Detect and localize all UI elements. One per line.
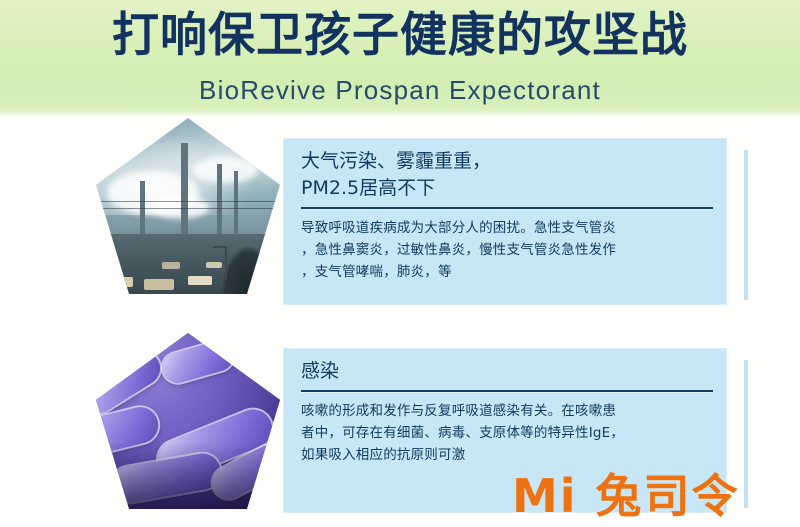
block-heading: 大气污染、雾霾重重， PM2.5居高不下 [301, 148, 713, 202]
accent-bar [744, 150, 748, 300]
poster-page: 打响保卫孩子健康的攻坚战 BioRevive Prospan Expectora… [0, 0, 800, 527]
block-heading: 感染 [301, 358, 713, 385]
header-banner: 打响保卫孩子健康的攻坚战 BioRevive Prospan Expectora… [0, 0, 800, 116]
pentagon-image-frame [96, 333, 280, 509]
bacteria-micrograph-photo [96, 333, 280, 509]
heading-divider [301, 207, 713, 209]
text-panel-pollution: 大气污染、雾霾重重， PM2.5居高不下 导致呼吸道疾病成为大部分人的困扰。急性… [283, 138, 727, 305]
accent-bar [744, 360, 748, 508]
watermark: Mi 兔司令 [512, 470, 740, 522]
air-pollution-photo [96, 118, 280, 294]
page-subtitle: BioRevive Prospan Expectorant [0, 74, 800, 106]
block-body-text: 导致呼吸道疾病成为大部分人的困扰。急性支气管炎 ，急性鼻窦炎，过敏性鼻炎，慢性支… [301, 217, 713, 283]
page-title: 打响保卫孩子健康的攻坚战 [0, 4, 800, 68]
pentagon-image-frame [96, 118, 280, 294]
block-body-text: 咳嗽的形成和发作与反复呼吸道感染有关。在咳嗽患 者中，可存在有细菌、病毒、支原体… [301, 400, 713, 466]
heading-divider [301, 390, 713, 392]
